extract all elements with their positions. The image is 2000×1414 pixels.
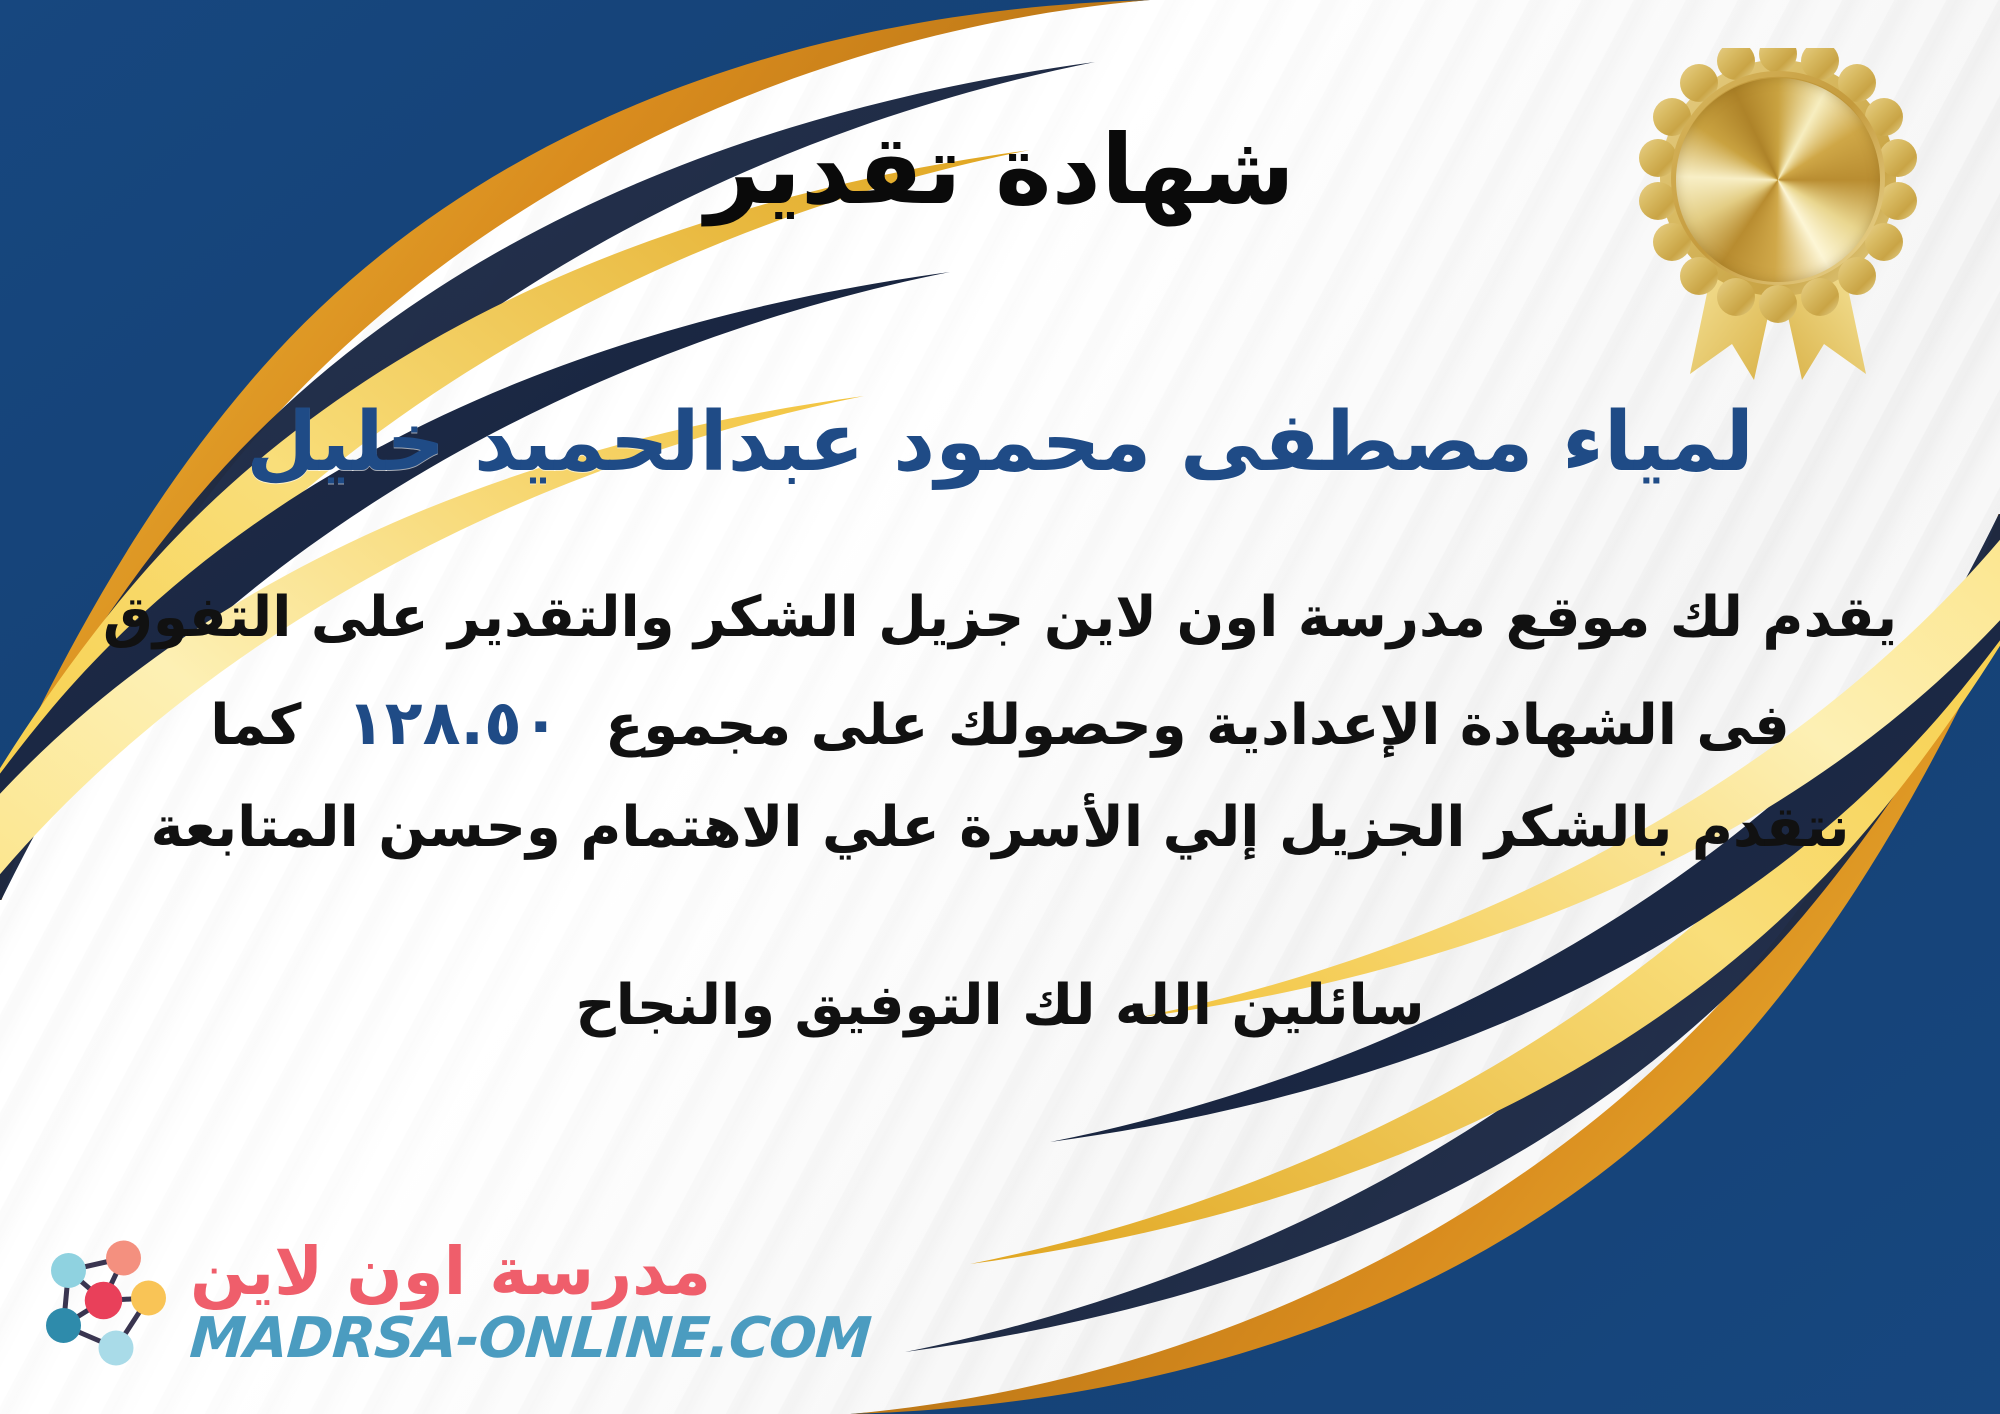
body-line-2: فى الشهادة الإعدادية وحصولك على مجموع ١٢… xyxy=(85,668,1915,778)
certificate-body: يقدم لك موقع مدرسة اون لاين جزيل الشكر و… xyxy=(85,568,1915,878)
node-salmon xyxy=(106,1241,141,1276)
body-line-2-suffix: كما xyxy=(210,693,301,758)
node-light-cyan xyxy=(99,1331,134,1366)
gold-award-medal-icon xyxy=(1628,48,1928,388)
node-cyan xyxy=(51,1253,86,1288)
brand-name-arabic: مدرسة اون لاين xyxy=(190,1239,711,1305)
medal-core xyxy=(1676,78,1880,282)
closing-line: سائلين الله لك التوفيق والنجاح xyxy=(200,964,1800,1048)
brand-logo[interactable]: مدرسة اون لاين MADRSA-ONLINE.COM xyxy=(26,1228,870,1378)
network-nodes-icon xyxy=(26,1228,176,1378)
score-value: ١٢٨.٥٠ xyxy=(321,686,586,759)
recipient-name: لمياء مصطفى محمود عبدالحميد خليل xyxy=(80,396,1920,490)
node-yellow xyxy=(131,1281,166,1316)
brand-url[interactable]: MADRSA-ONLINE.COM xyxy=(188,1311,872,1367)
body-line-2-prefix: فى الشهادة الإعدادية وحصولك على مجموع xyxy=(605,693,1790,758)
certificate-canvas: شهادة تقدير لمياء مصطفى محمود عبدالحميد … xyxy=(0,0,2000,1414)
node-red xyxy=(85,1282,123,1320)
body-line-1: يقدم لك موقع مدرسة اون لاين جزيل الشكر و… xyxy=(85,568,1915,668)
node-blue xyxy=(46,1308,81,1343)
body-line-3: نتقدم بالشكر الجزيل إلي الأسرة علي الاهت… xyxy=(85,778,1915,878)
brand-text: مدرسة اون لاين MADRSA-ONLINE.COM xyxy=(190,1239,870,1367)
